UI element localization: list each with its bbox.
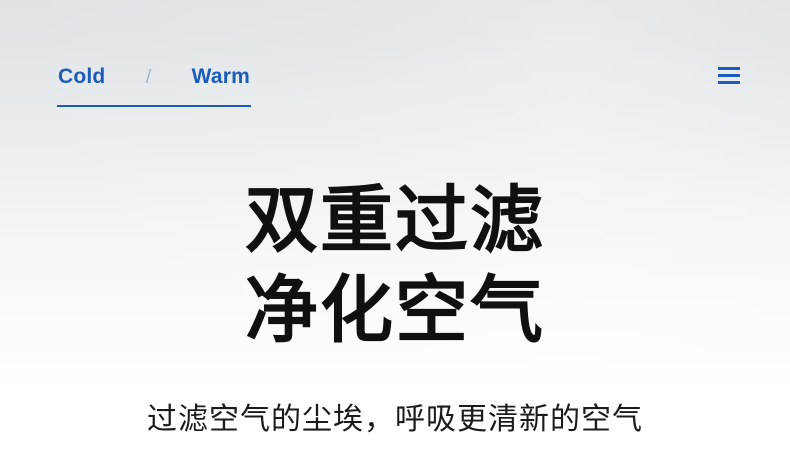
mode-switch-underline <box>57 105 251 107</box>
mode-switch-options: Cold / Warm <box>57 62 251 92</box>
nav-option-cold[interactable]: Cold <box>58 62 105 92</box>
page-subtitle: 过滤空气的尘埃，呼吸更清新的空气 <box>0 356 790 441</box>
nav-separator: / <box>144 63 153 93</box>
hero-section: 双重过滤 净化空气 过滤空气的尘埃，呼吸更清新的空气 <box>0 176 790 441</box>
hamburger-bar-top <box>718 67 740 70</box>
page-title-line-2: 净化空气 <box>0 266 790 356</box>
hero-page: Cold / Warm 双重过滤 净化空气 过滤空气的尘埃，呼吸更清新的空气 <box>0 0 790 461</box>
page-title-line-1: 双重过滤 <box>0 176 790 266</box>
page-title: 双重过滤 净化空气 <box>0 176 790 356</box>
nav-option-warm[interactable]: Warm <box>192 62 250 92</box>
hamburger-bar-bottom <box>718 81 740 84</box>
top-bar: Cold / Warm <box>0 0 790 120</box>
hamburger-bar-middle <box>718 74 740 77</box>
hamburger-menu-icon[interactable] <box>716 62 742 88</box>
mode-switch: Cold / Warm <box>57 62 251 107</box>
page-content: Cold / Warm 双重过滤 净化空气 过滤空气的尘埃，呼吸更清新的空气 <box>0 0 790 461</box>
